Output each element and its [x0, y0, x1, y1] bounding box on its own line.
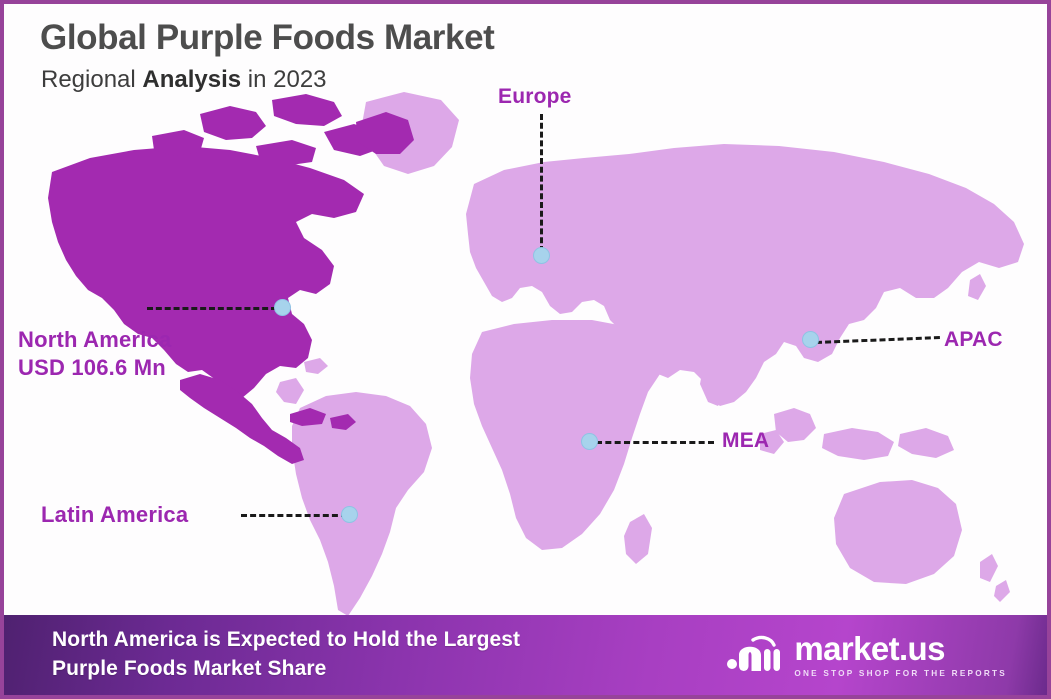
- map-marker-apac[interactable]: [802, 331, 819, 348]
- page-title: Global Purple Foods Market: [40, 18, 494, 58]
- map-marker-mea[interactable]: [581, 433, 598, 450]
- region-label-latin-america: Latin America: [41, 501, 188, 529]
- market-us-logo[interactable]: market.us ONE STOP SHOP FOR THE REPORTS: [725, 632, 1007, 678]
- leader-line-mea: [596, 441, 714, 444]
- bottom-banner: North America is Expected to Hold the La…: [4, 615, 1047, 695]
- infographic-canvas: Global Purple Foods Market Regional Anal…: [4, 4, 1047, 695]
- market-us-logo-text: market.us ONE STOP SHOP FOR THE REPORTS: [794, 632, 1007, 678]
- infographic-root: Global Purple Foods Market Regional Anal…: [0, 0, 1051, 699]
- region-label-north-america: North America USD 106.6 Mn: [18, 326, 171, 382]
- region-name-north-america: North America: [18, 326, 171, 354]
- leader-line-latin-america: [241, 514, 347, 517]
- region-label-europe: Europe: [498, 84, 572, 111]
- market-us-wordmark: market.us: [794, 632, 945, 665]
- region-label-apac: APAC: [944, 327, 1003, 354]
- leader-line-europe: [540, 114, 543, 252]
- banner-headline: North America is Expected to Hold the La…: [52, 626, 520, 683]
- region-value-north-america: USD 106.6 Mn: [18, 354, 171, 382]
- banner-headline-line1: North America is Expected to Hold the La…: [52, 626, 520, 655]
- market-us-logo-mark: [725, 633, 781, 677]
- map-region-base: [276, 92, 1024, 616]
- market-us-tagline: ONE STOP SHOP FOR THE REPORTS: [794, 669, 1007, 678]
- leader-line-north-america: [147, 307, 277, 310]
- map-marker-europe[interactable]: [533, 247, 550, 264]
- banner-headline-line2: Purple Foods Market Share: [52, 655, 520, 684]
- map-marker-latin-america[interactable]: [341, 506, 358, 523]
- map-marker-north-america[interactable]: [274, 299, 291, 316]
- region-label-mea: MEA: [722, 428, 769, 455]
